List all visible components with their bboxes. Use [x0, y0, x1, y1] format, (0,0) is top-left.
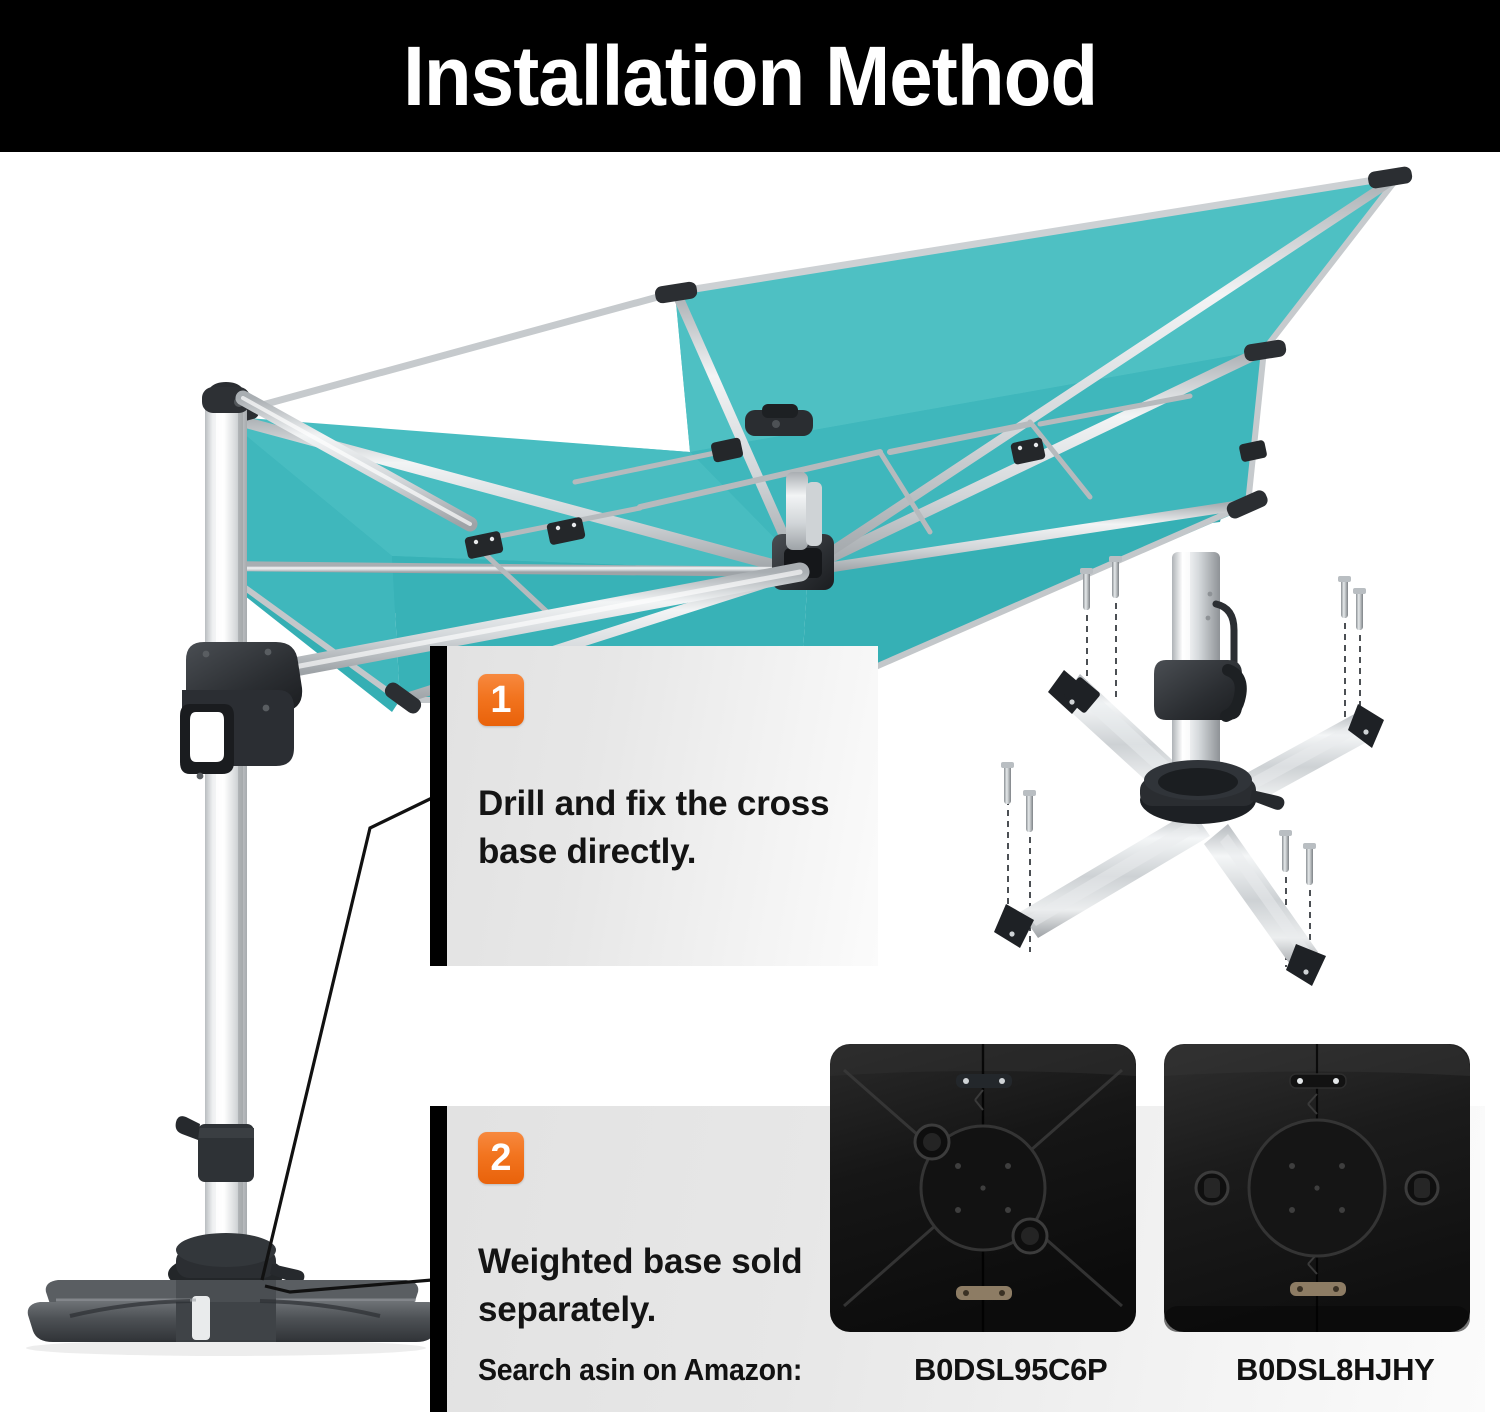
step-2-accent-bar [430, 1106, 447, 1412]
header-bar: Installation Method [0, 0, 1500, 152]
step-1-number-badge: 1 [478, 674, 524, 726]
content-stage: 1 Drill and fix the cross base directly. [0, 152, 1500, 1422]
step-2-text-line1: Weighted base sold [478, 1242, 802, 1281]
step-1-text-line2: base directly. [478, 832, 696, 871]
page-title: Installation Method [403, 34, 1097, 118]
weighted-base-left-illustration [818, 1030, 1148, 1342]
step-1-text-line1: Drill and fix the cross [478, 784, 829, 823]
step-2-text: Weighted base sold separately. [478, 1238, 868, 1335]
step-1-panel: 1 Drill and fix the cross base directly. [430, 646, 878, 966]
asin-code-left: B0DSL95C6P [914, 1352, 1107, 1388]
step-2-number-badge: 2 [478, 1132, 524, 1184]
step-1-accent-bar [430, 646, 447, 966]
weighted-base-right-illustration [1152, 1030, 1482, 1342]
asin-code-right: B0DSL8HJHY [1236, 1352, 1435, 1388]
step-1-text: Drill and fix the cross base directly. [478, 780, 868, 877]
asin-label: Search asin on Amazon: [478, 1352, 802, 1388]
cross-base-illustration [960, 552, 1430, 1002]
step-2-text-line2: separately. [478, 1290, 656, 1329]
asin-row: Search asin on Amazon: B0DSL95C6P B0DSL8… [478, 1352, 1468, 1388]
